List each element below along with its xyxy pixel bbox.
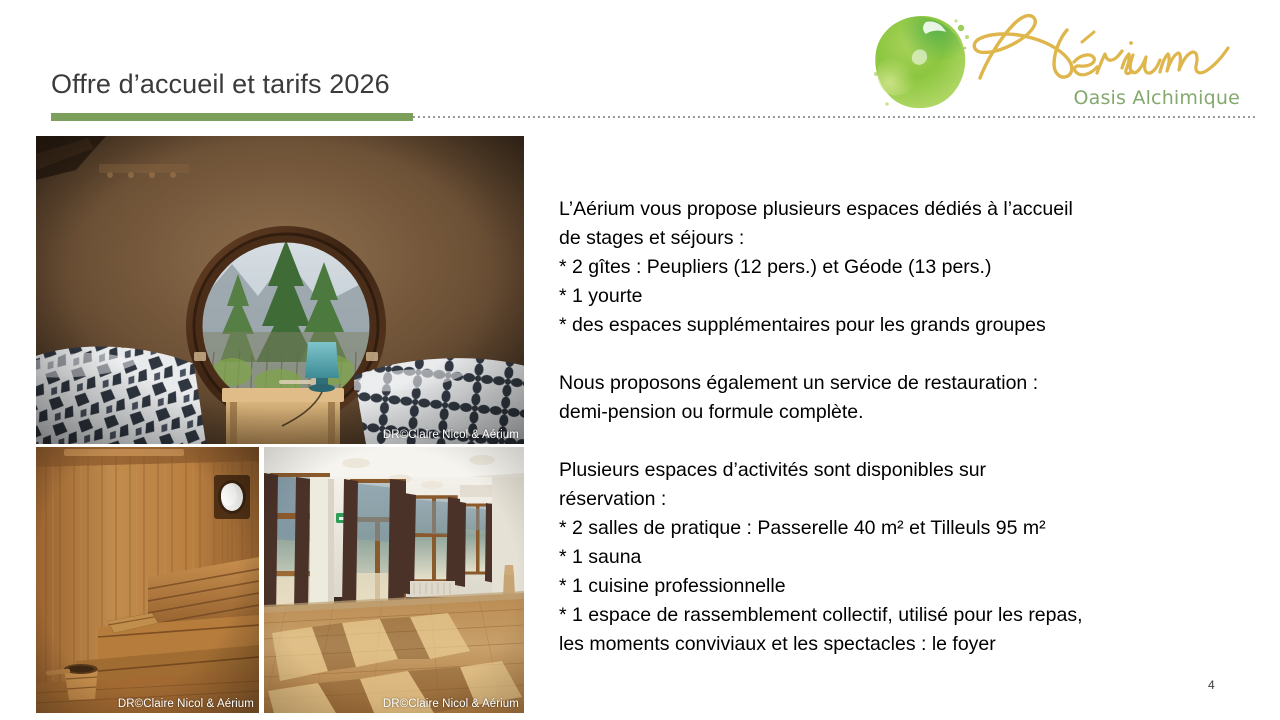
body-line: de stages et séjours : xyxy=(559,224,1219,253)
page-title-line-1: Offre d’accueil et tarifs 2026 xyxy=(51,66,671,102)
body-line: * des espaces supplémentaires pour les g… xyxy=(559,311,1219,340)
body-copy: L’Aérium vous propose plusieurs espaces … xyxy=(559,195,1219,659)
brand-logo: Oasis Alchimique xyxy=(866,8,1236,116)
photo-sauna: DR©Claire Nicol & Aérium xyxy=(36,447,259,713)
body-paragraph-2: Nous proposons également un service de r… xyxy=(559,369,1219,427)
body-line: * 1 sauna xyxy=(559,543,1219,572)
body-line: * 1 espace de rassemblement collectif, u… xyxy=(559,601,1219,630)
body-line: Plusieurs espaces d’activités sont dispo… xyxy=(559,456,1219,485)
watercolor-circle-icon xyxy=(870,12,970,112)
photo-credit: DR©Claire Nicol & Aérium xyxy=(383,697,519,711)
photo-credit: DR©Claire Nicol & Aérium xyxy=(118,697,254,711)
body-paragraph-1: L’Aérium vous propose plusieurs espaces … xyxy=(559,195,1219,340)
body-line: * 1 cuisine professionnelle xyxy=(559,572,1219,601)
brand-wordmark-aerium xyxy=(970,10,1236,88)
body-paragraph-3: Plusieurs espaces d’activités sont dispo… xyxy=(559,456,1219,659)
header-divider-dotted-line xyxy=(413,116,1256,118)
body-line: * 2 gîtes : Peupliers (12 pers.) et Géod… xyxy=(559,253,1219,282)
body-line: * 2 salles de pratique : Passerelle 40 m… xyxy=(559,514,1219,543)
brand-tagline: Oasis Alchimique xyxy=(1062,87,1240,109)
body-line: * 1 yourte xyxy=(559,282,1219,311)
photo-round-window-bedroom: DR©Claire Nicol & Aérium xyxy=(36,136,524,444)
body-line: les moments conviviaux et les spectacles… xyxy=(559,630,1219,659)
slide: Offre d’accueil et tarifs 2026 Notre off… xyxy=(0,0,1280,720)
body-line: réservation : xyxy=(559,485,1219,514)
photo-salle-tilleuls: DR©Claire Nicol & Aérium xyxy=(264,447,524,713)
header-divider-green-bar xyxy=(51,113,413,121)
body-line: Nous proposons également un service de r… xyxy=(559,369,1219,398)
body-line: demi-pension ou formule complète. xyxy=(559,398,1219,427)
page-number: 4 xyxy=(1208,678,1248,692)
body-line: L’Aérium vous propose plusieurs espaces … xyxy=(559,195,1219,224)
photo-credit: DR©Claire Nicol & Aérium xyxy=(383,428,519,442)
